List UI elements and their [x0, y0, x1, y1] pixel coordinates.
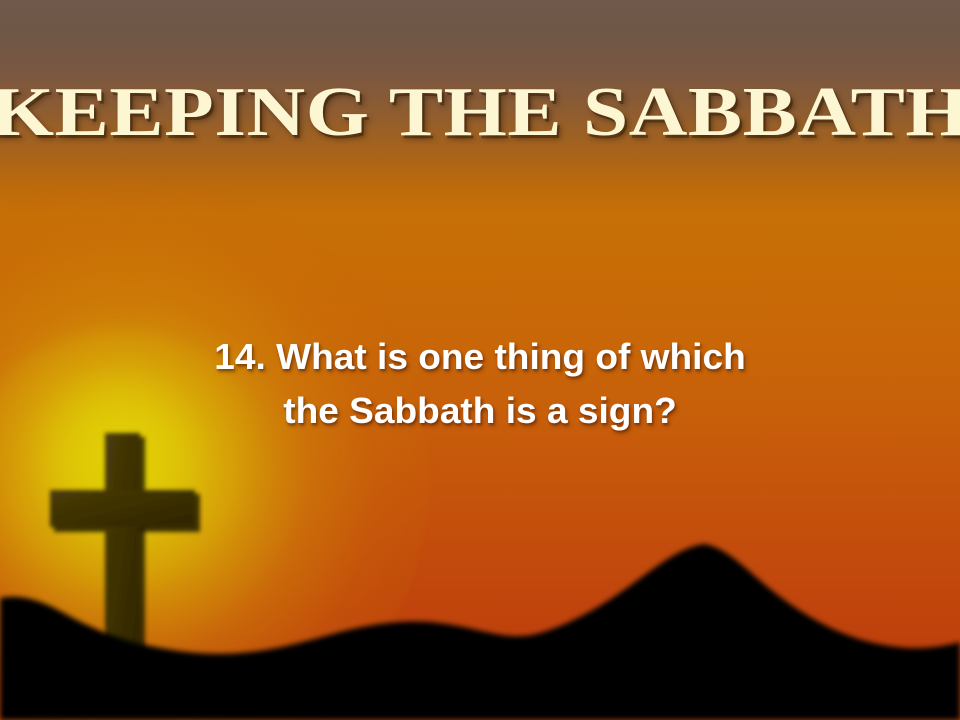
question-line-2: the Sabbath is a sign? [0, 384, 960, 438]
question-line-1: 14. What is one thing of which [0, 330, 960, 384]
page-title: KEEPING THE SABBATH [0, 78, 960, 148]
question-text-block: 14. What is one thing of which the Sabba… [0, 330, 960, 438]
hill-silhouette [0, 520, 960, 720]
presentation-slide: KEEPING THE SABBATH 14. What is one thin… [0, 0, 960, 720]
